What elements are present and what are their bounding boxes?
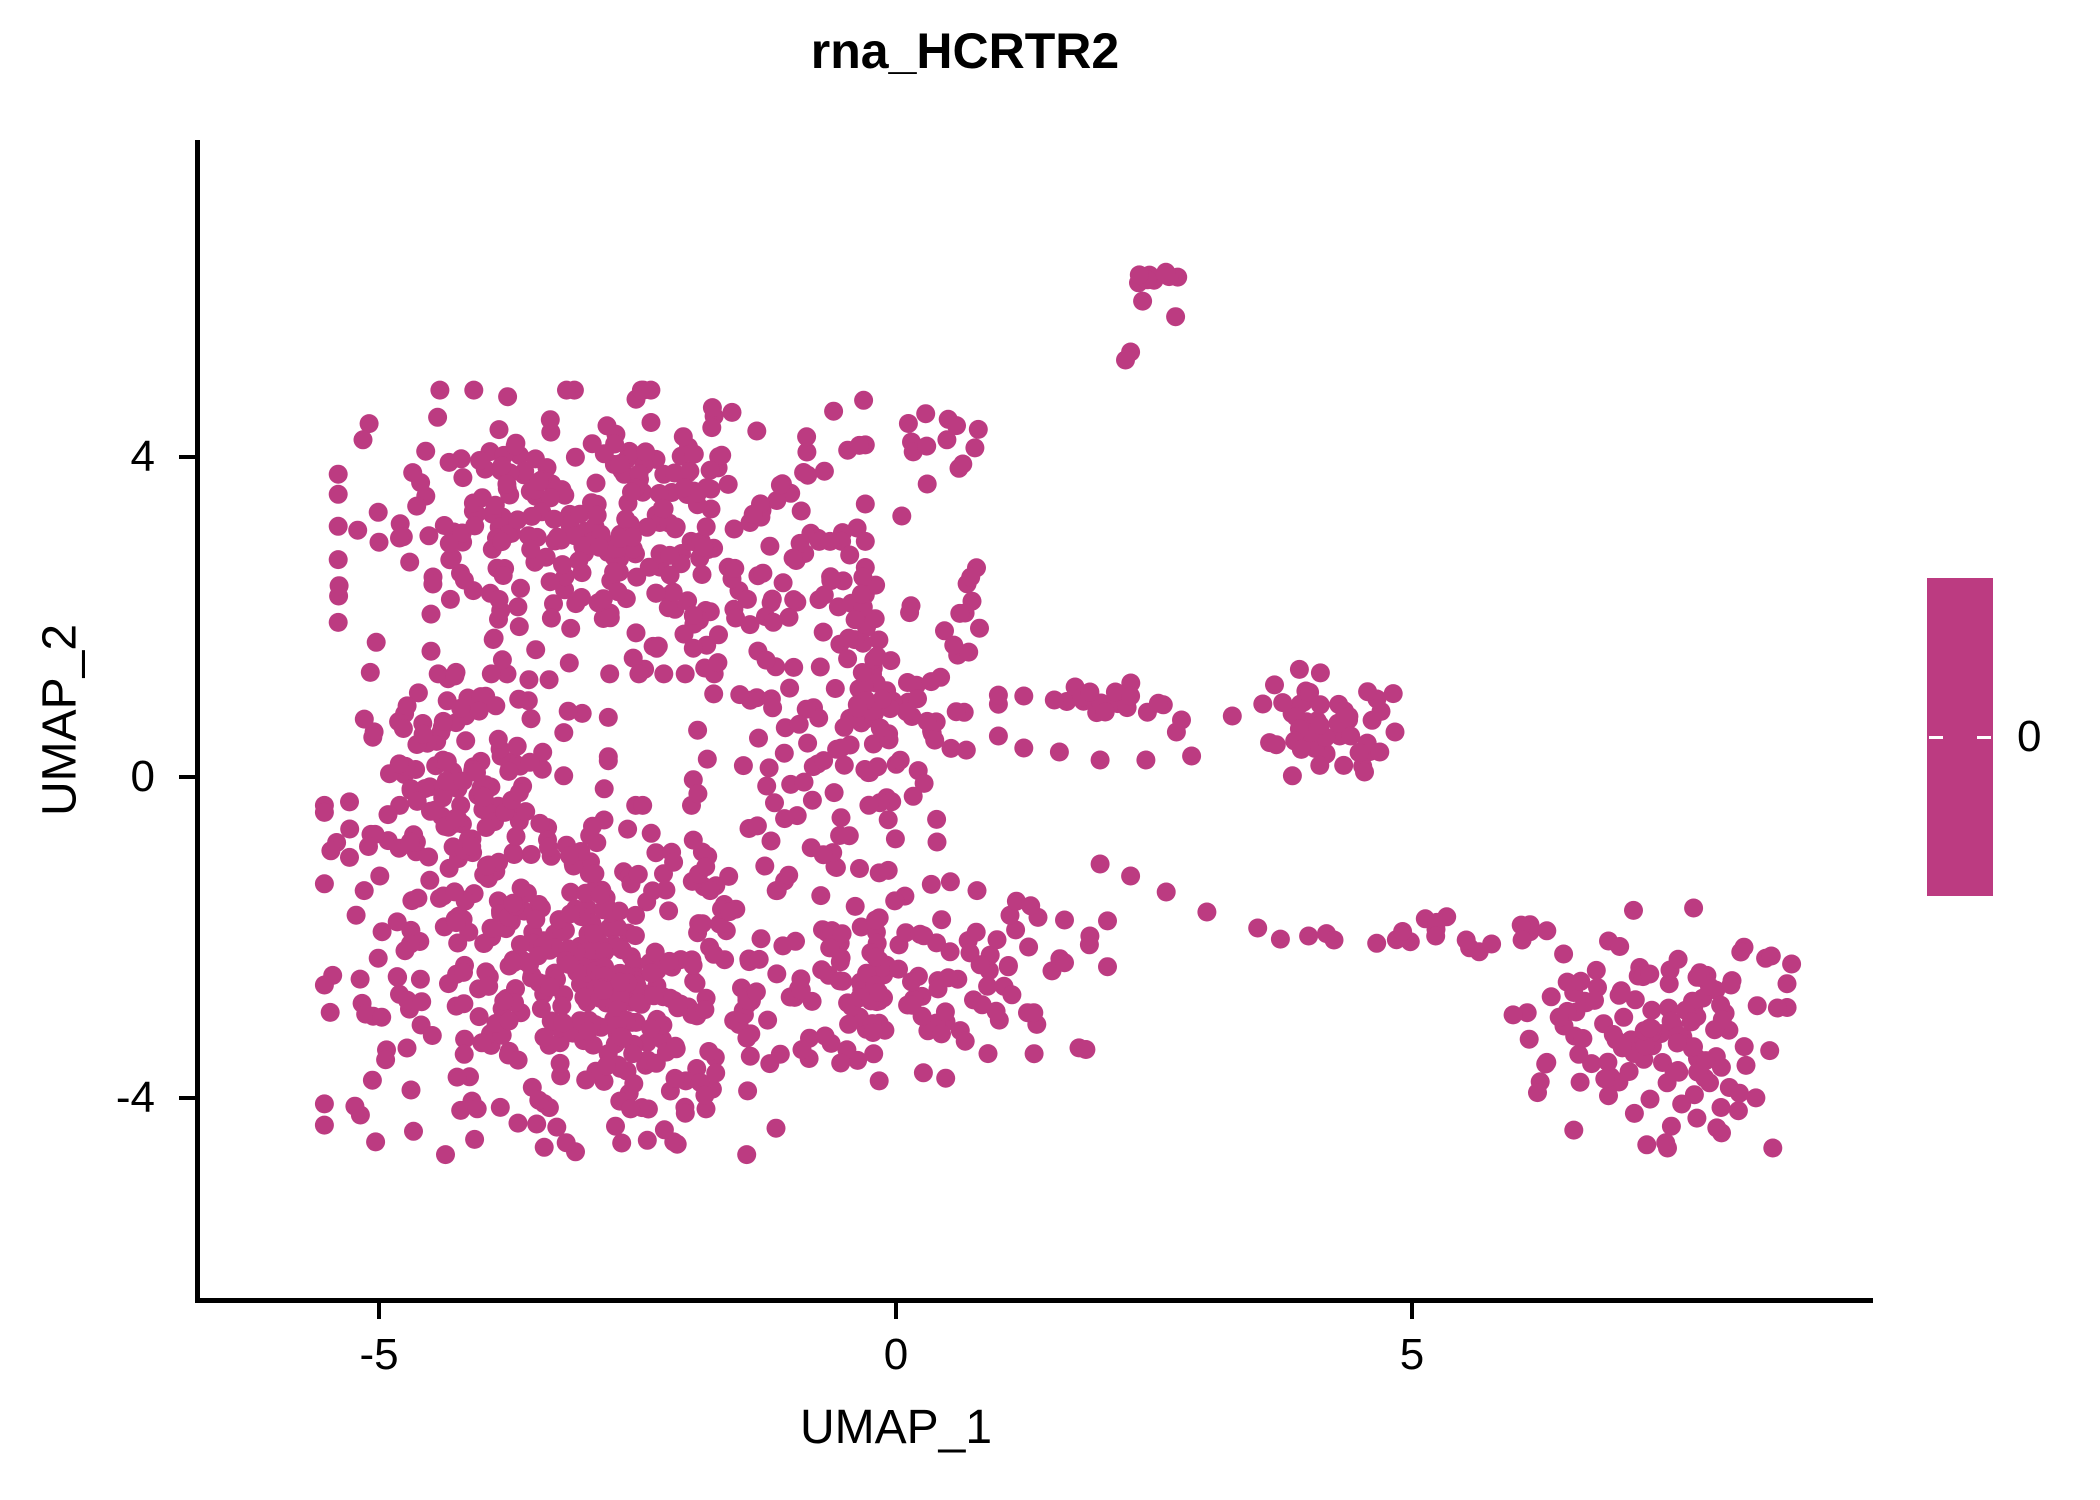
colorbar-tick-label: 0 [2017, 712, 2041, 762]
y-tick-label-4: 4 [35, 432, 155, 482]
y-tick-mark-0 [179, 775, 195, 779]
x-tick-label-5: 5 [1342, 1330, 1482, 1380]
x-tick-label-neg5: -5 [309, 1330, 449, 1380]
y-tick-label-neg4: -4 [35, 1073, 155, 1123]
x-tick-mark-neg5 [377, 1303, 381, 1319]
colorbar-tick-right-icon [1977, 736, 1991, 739]
page-title: rna_HCRTR2 [0, 22, 1930, 80]
colorbar-legend[interactable]: 0 [1927, 578, 2097, 898]
x-axis-label: UMAP_1 [800, 1400, 992, 1455]
x-tick-mark-0 [894, 1303, 898, 1319]
colorbar-tick-left-icon [1929, 736, 1943, 739]
y-tick-mark-neg4 [179, 1096, 195, 1100]
scatter-plot-points [195, 140, 1873, 1300]
x-tick-label-0: 0 [826, 1330, 966, 1380]
y-tick-mark-4 [179, 455, 195, 459]
x-tick-mark-5 [1410, 1303, 1414, 1319]
y-axis-label: UMAP_2 [33, 624, 88, 816]
umap-feature-plot: rna_HCRTR2 4 0 -4 -5 0 5 UMAP_1 UMAP_2 0 [0, 0, 2100, 1500]
